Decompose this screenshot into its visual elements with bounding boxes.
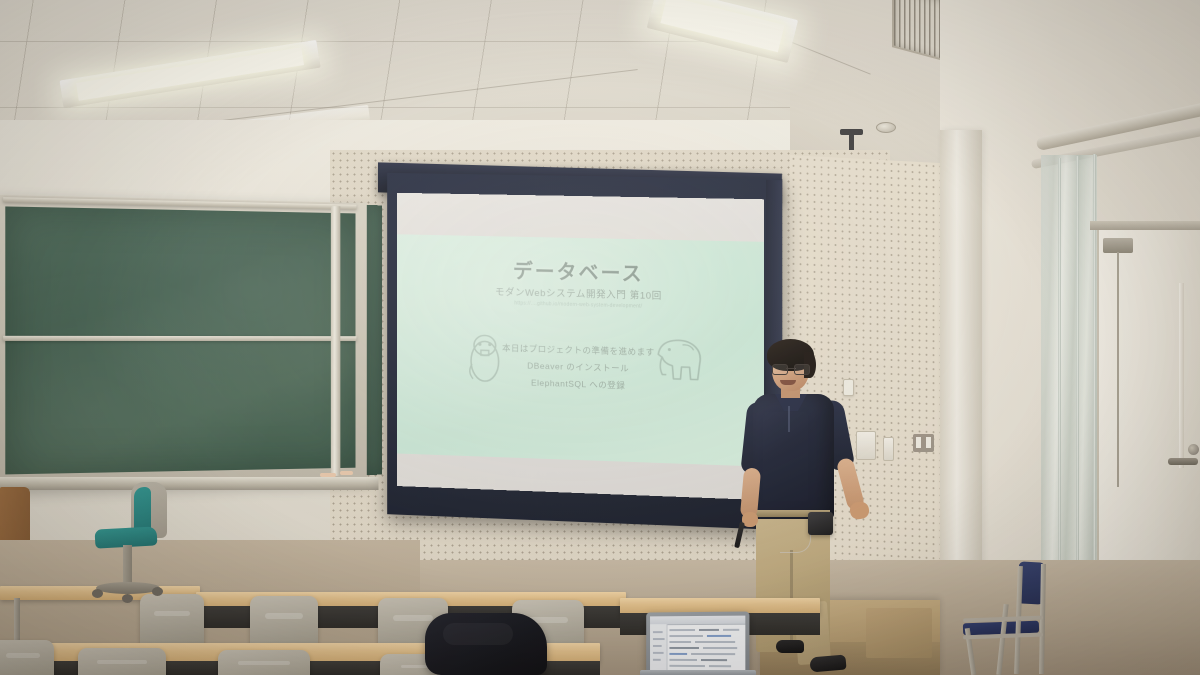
- laptop-content-row: [707, 635, 731, 637]
- chair-caster: [152, 587, 163, 596]
- chair-base: [96, 582, 160, 594]
- laptop-content-row: [701, 659, 727, 661]
- laptop-content-row: [669, 629, 695, 631]
- chalk-tray: [0, 477, 378, 490]
- slide-title: データベース: [397, 252, 764, 289]
- door-lock-icon[interactable]: [1188, 444, 1199, 455]
- door-frame: [1090, 221, 1200, 230]
- presenter-pointer-icon: [734, 522, 745, 548]
- door-edge-strip: [1179, 283, 1184, 468]
- presenter-polo-shirt: [753, 394, 834, 519]
- laptop-content-row: [669, 641, 691, 643]
- glasses-lens-right: [794, 364, 810, 375]
- slide-body: 本日はプロジェクトの準備を進めます DBeaver のインストール Elepha…: [397, 337, 764, 399]
- projected-slide: データベース モダンWebシステム開発入門 第10回 https://....g…: [397, 234, 764, 466]
- laptop-content-row: [669, 659, 697, 661]
- laptop-sidebar-row: [653, 652, 664, 654]
- presenter-laptop[interactable]: [646, 611, 749, 675]
- elephant-icon: [652, 332, 705, 386]
- desk-leg: [14, 598, 20, 644]
- green-chalkboard: [0, 195, 367, 491]
- belt-pouch: [808, 512, 833, 535]
- laptop-content-row: [669, 635, 703, 637]
- student-chair: [140, 594, 204, 650]
- chair-caster: [92, 589, 103, 598]
- chalk-piece: [320, 473, 336, 477]
- smoke-detector-icon: [876, 122, 896, 133]
- student-chair: [218, 650, 310, 675]
- slide-body-line: ElephantSQL への登録: [397, 371, 764, 399]
- laptop-screen: [650, 616, 745, 674]
- presenter-hand-right: [849, 500, 871, 520]
- laptop-sidebar-row: [653, 659, 661, 661]
- presenter-shoe-right: [809, 654, 846, 672]
- laptop-content-row: [691, 653, 735, 655]
- laptop-content-row: [669, 653, 687, 655]
- laptop-content-row: [669, 647, 699, 649]
- slide-body-line: DBeaver のインストール: [397, 354, 764, 382]
- glasses-icon: [772, 364, 810, 373]
- chalkboard-divider: [331, 206, 340, 476]
- laptop-base: [640, 670, 756, 675]
- laptop-content-row: [723, 629, 739, 631]
- laptop-content-row: [703, 647, 737, 649]
- presenter-mouth: [780, 380, 796, 385]
- door-closer: [1103, 238, 1133, 253]
- student-chair: [0, 640, 54, 675]
- laptop-sidebar-row: [653, 638, 665, 640]
- door-handle[interactable]: [1168, 458, 1198, 465]
- slide-subtitle: モダンWebシステム開発入門 第10回: [397, 282, 764, 305]
- slide-url: https://....github.io/modern-web-system-…: [397, 297, 764, 312]
- projection-screen: データベース モダンWebシステム開発入門 第10回 https://....g…: [397, 193, 764, 500]
- laptop-content-row: [709, 665, 731, 667]
- chalk-piece: [340, 471, 353, 475]
- chair-caster: [122, 594, 133, 603]
- laptop-content-row: [699, 629, 719, 631]
- lecture-room-photo: データベース モダンWebシステム開発入門 第10回 https://....g…: [0, 0, 1200, 675]
- chalkboard-rail: [3, 336, 356, 341]
- glasses-lens-left: [772, 364, 788, 375]
- presenter-placket: [788, 406, 790, 432]
- laptop-sidebar-row: [653, 645, 662, 647]
- laptop-sidebar-row: [653, 631, 663, 633]
- beaver-icon: [465, 331, 504, 384]
- slide-body-line: 本日はプロジェクトの準備を進めます: [397, 337, 764, 364]
- presenter-cable: [780, 518, 811, 553]
- black-jacket: [425, 613, 547, 675]
- door-closer-arm: [1117, 252, 1119, 487]
- chair-post: [123, 545, 132, 587]
- student-chair: [78, 648, 166, 675]
- laptop-content-row: [695, 641, 735, 643]
- laptop-content-row: [669, 665, 705, 667]
- presenter-shoe-left: [776, 640, 804, 653]
